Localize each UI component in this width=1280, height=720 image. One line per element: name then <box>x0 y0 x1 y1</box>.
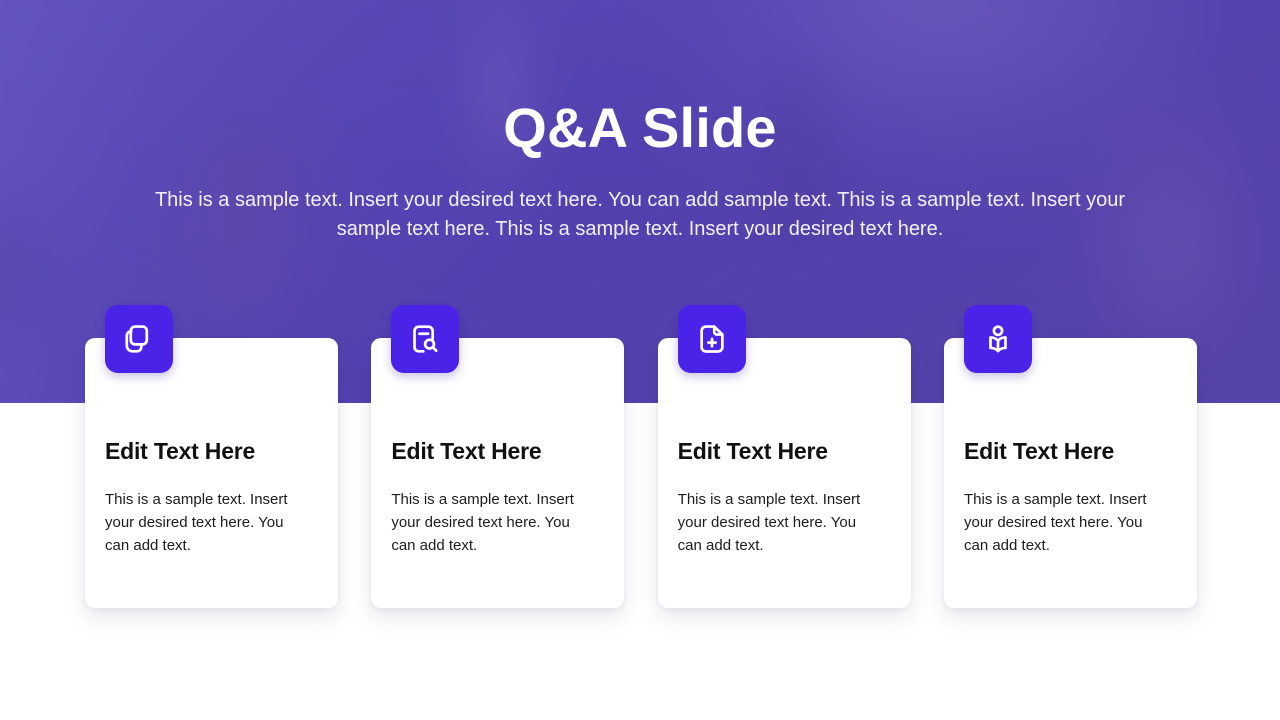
card-3-icon-badge <box>678 305 746 373</box>
page-title: Q&A Slide <box>0 0 1280 160</box>
copy-documents-icon <box>122 322 156 356</box>
card-4-icon-badge <box>964 305 1032 373</box>
feature-card-2[interactable]: Edit Text Here This is a sample text. In… <box>371 338 624 608</box>
document-add-icon <box>695 322 729 356</box>
feature-card-4[interactable]: Edit Text Here This is a sample text. In… <box>944 338 1197 608</box>
feature-card-3[interactable]: Edit Text Here This is a sample text. In… <box>658 338 911 608</box>
hero-text-block: Q&A Slide This is a sample text. Insert … <box>0 0 1280 244</box>
card-1-body: This is a sample text. Insert your desir… <box>105 488 305 558</box>
feature-card-1[interactable]: Edit Text Here This is a sample text. In… <box>85 338 338 608</box>
card-2-title: Edit Text Here <box>391 438 604 466</box>
card-1-title: Edit Text Here <box>105 438 318 466</box>
card-4-title: Edit Text Here <box>964 438 1177 466</box>
qa-slide: Q&A Slide This is a sample text. Insert … <box>0 0 1280 720</box>
feature-card-row: Edit Text Here This is a sample text. In… <box>85 338 1197 610</box>
card-4-body: This is a sample text. Insert your desir… <box>964 488 1164 558</box>
card-3-body: This is a sample text. Insert your desir… <box>678 488 878 558</box>
page-subtitle: This is a sample text. Insert your desir… <box>150 186 1130 244</box>
document-search-icon <box>408 322 442 356</box>
card-3-title: Edit Text Here <box>678 438 891 466</box>
card-2-icon-badge <box>391 305 459 373</box>
card-2-body: This is a sample text. Insert your desir… <box>391 488 591 558</box>
reader-person-book-icon <box>981 322 1015 356</box>
card-1-icon-badge <box>105 305 173 373</box>
